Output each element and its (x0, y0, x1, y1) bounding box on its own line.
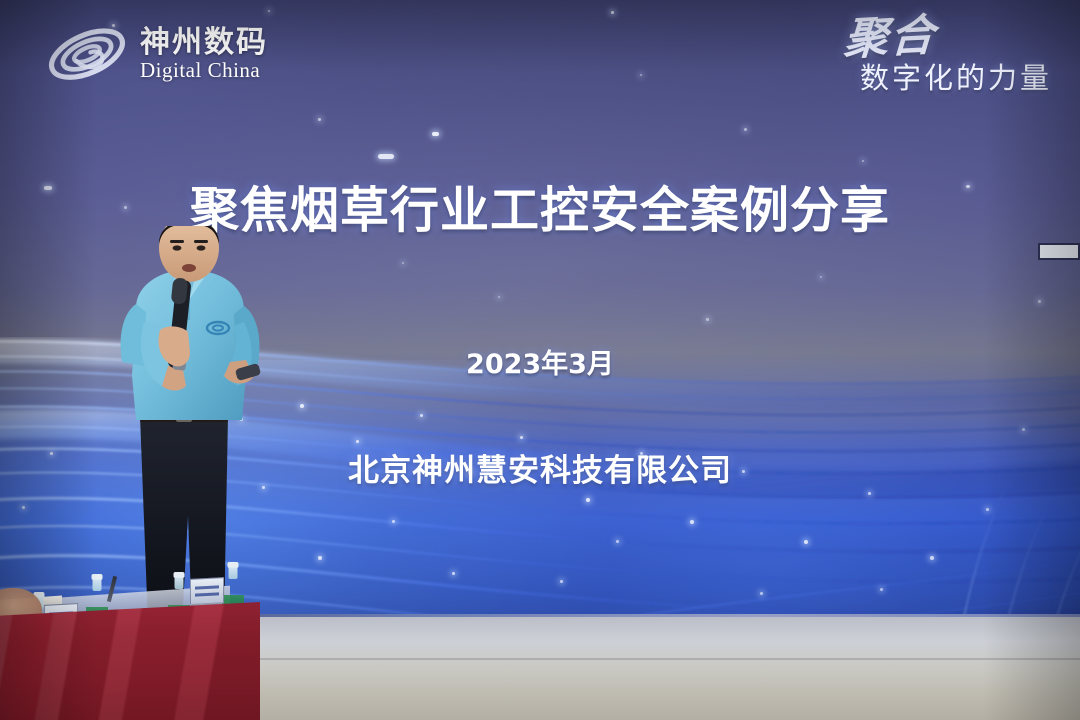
name-card (190, 577, 224, 605)
brand-name-cn: 神州数码 (140, 27, 268, 59)
event-calligraphy: 聚合 (843, 14, 938, 63)
name-card-line (195, 585, 219, 589)
front-table (0, 560, 270, 720)
event-tagline: 数字化的力量 (844, 64, 1052, 93)
table-cloth (0, 602, 260, 720)
conference-stage-photo: 神州数码 Digital China 聚合 数字化的力量 聚焦烟草行业工控安全案… (0, 0, 1080, 720)
digital-china-swirl-icon (44, 18, 130, 90)
event-mark: 聚合 数字化的力量 (844, 16, 1052, 93)
slide-organization: 北京神州慧安科技有限公司 (348, 456, 732, 487)
edge-decoration-bar (1038, 243, 1080, 260)
brand-logo: 神州数码 Digital China (44, 18, 268, 90)
bottle-neck (229, 567, 238, 579)
name-card-line (195, 592, 219, 596)
bottle-neck (93, 579, 102, 591)
bottle-neck (175, 577, 184, 589)
slide-date: 2023年3月 (466, 351, 614, 378)
brand-name-en: Digital China (140, 59, 268, 81)
slide-title: 聚焦烟草行业工控安全案例分享 (190, 186, 890, 235)
